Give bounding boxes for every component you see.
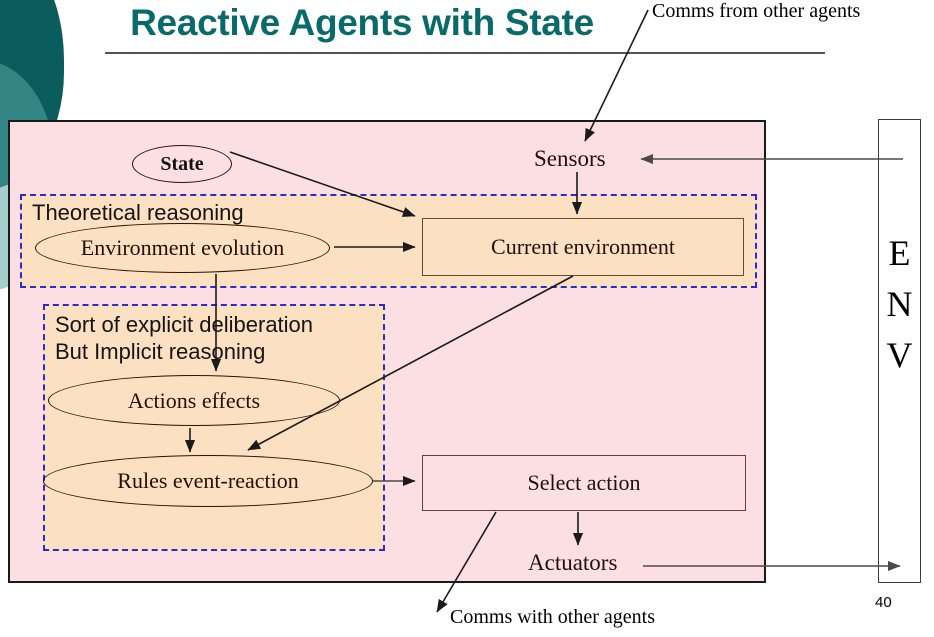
node-sensors: Sensors — [534, 146, 606, 172]
node-select-action: Select action — [422, 455, 746, 511]
node-actions-effects: Actions effects — [48, 375, 340, 426]
group-label-explicit-deliberation: Sort of explicit deliberation But Implic… — [55, 311, 313, 365]
env-letter-n: N — [878, 279, 921, 330]
slide-title: Reactive Agents with State — [112, 2, 612, 44]
caption-comms-from-other-agents: Comms from other agents — [652, 0, 860, 23]
node-state: State — [132, 145, 232, 183]
caption-comms-with-other-agents: Comms with other agents — [450, 606, 655, 629]
page-number: 40 — [875, 594, 892, 611]
node-rules-event-reaction: Rules event-reaction — [43, 455, 373, 507]
env-letter-v: V — [878, 330, 921, 381]
group-label-theoretical-reasoning: Theoretical reasoning — [32, 199, 244, 226]
node-current-environment: Current environment — [422, 218, 744, 276]
node-actuators: Actuators — [528, 550, 617, 576]
slide-canvas: Reactive Agents with State Comms from ot… — [0, 0, 934, 637]
env-letter-e: E — [878, 228, 921, 279]
title-underline-rule — [105, 52, 825, 54]
environment-label: ENV — [878, 228, 921, 381]
node-environment-evolution: Environment evolution — [35, 223, 330, 273]
